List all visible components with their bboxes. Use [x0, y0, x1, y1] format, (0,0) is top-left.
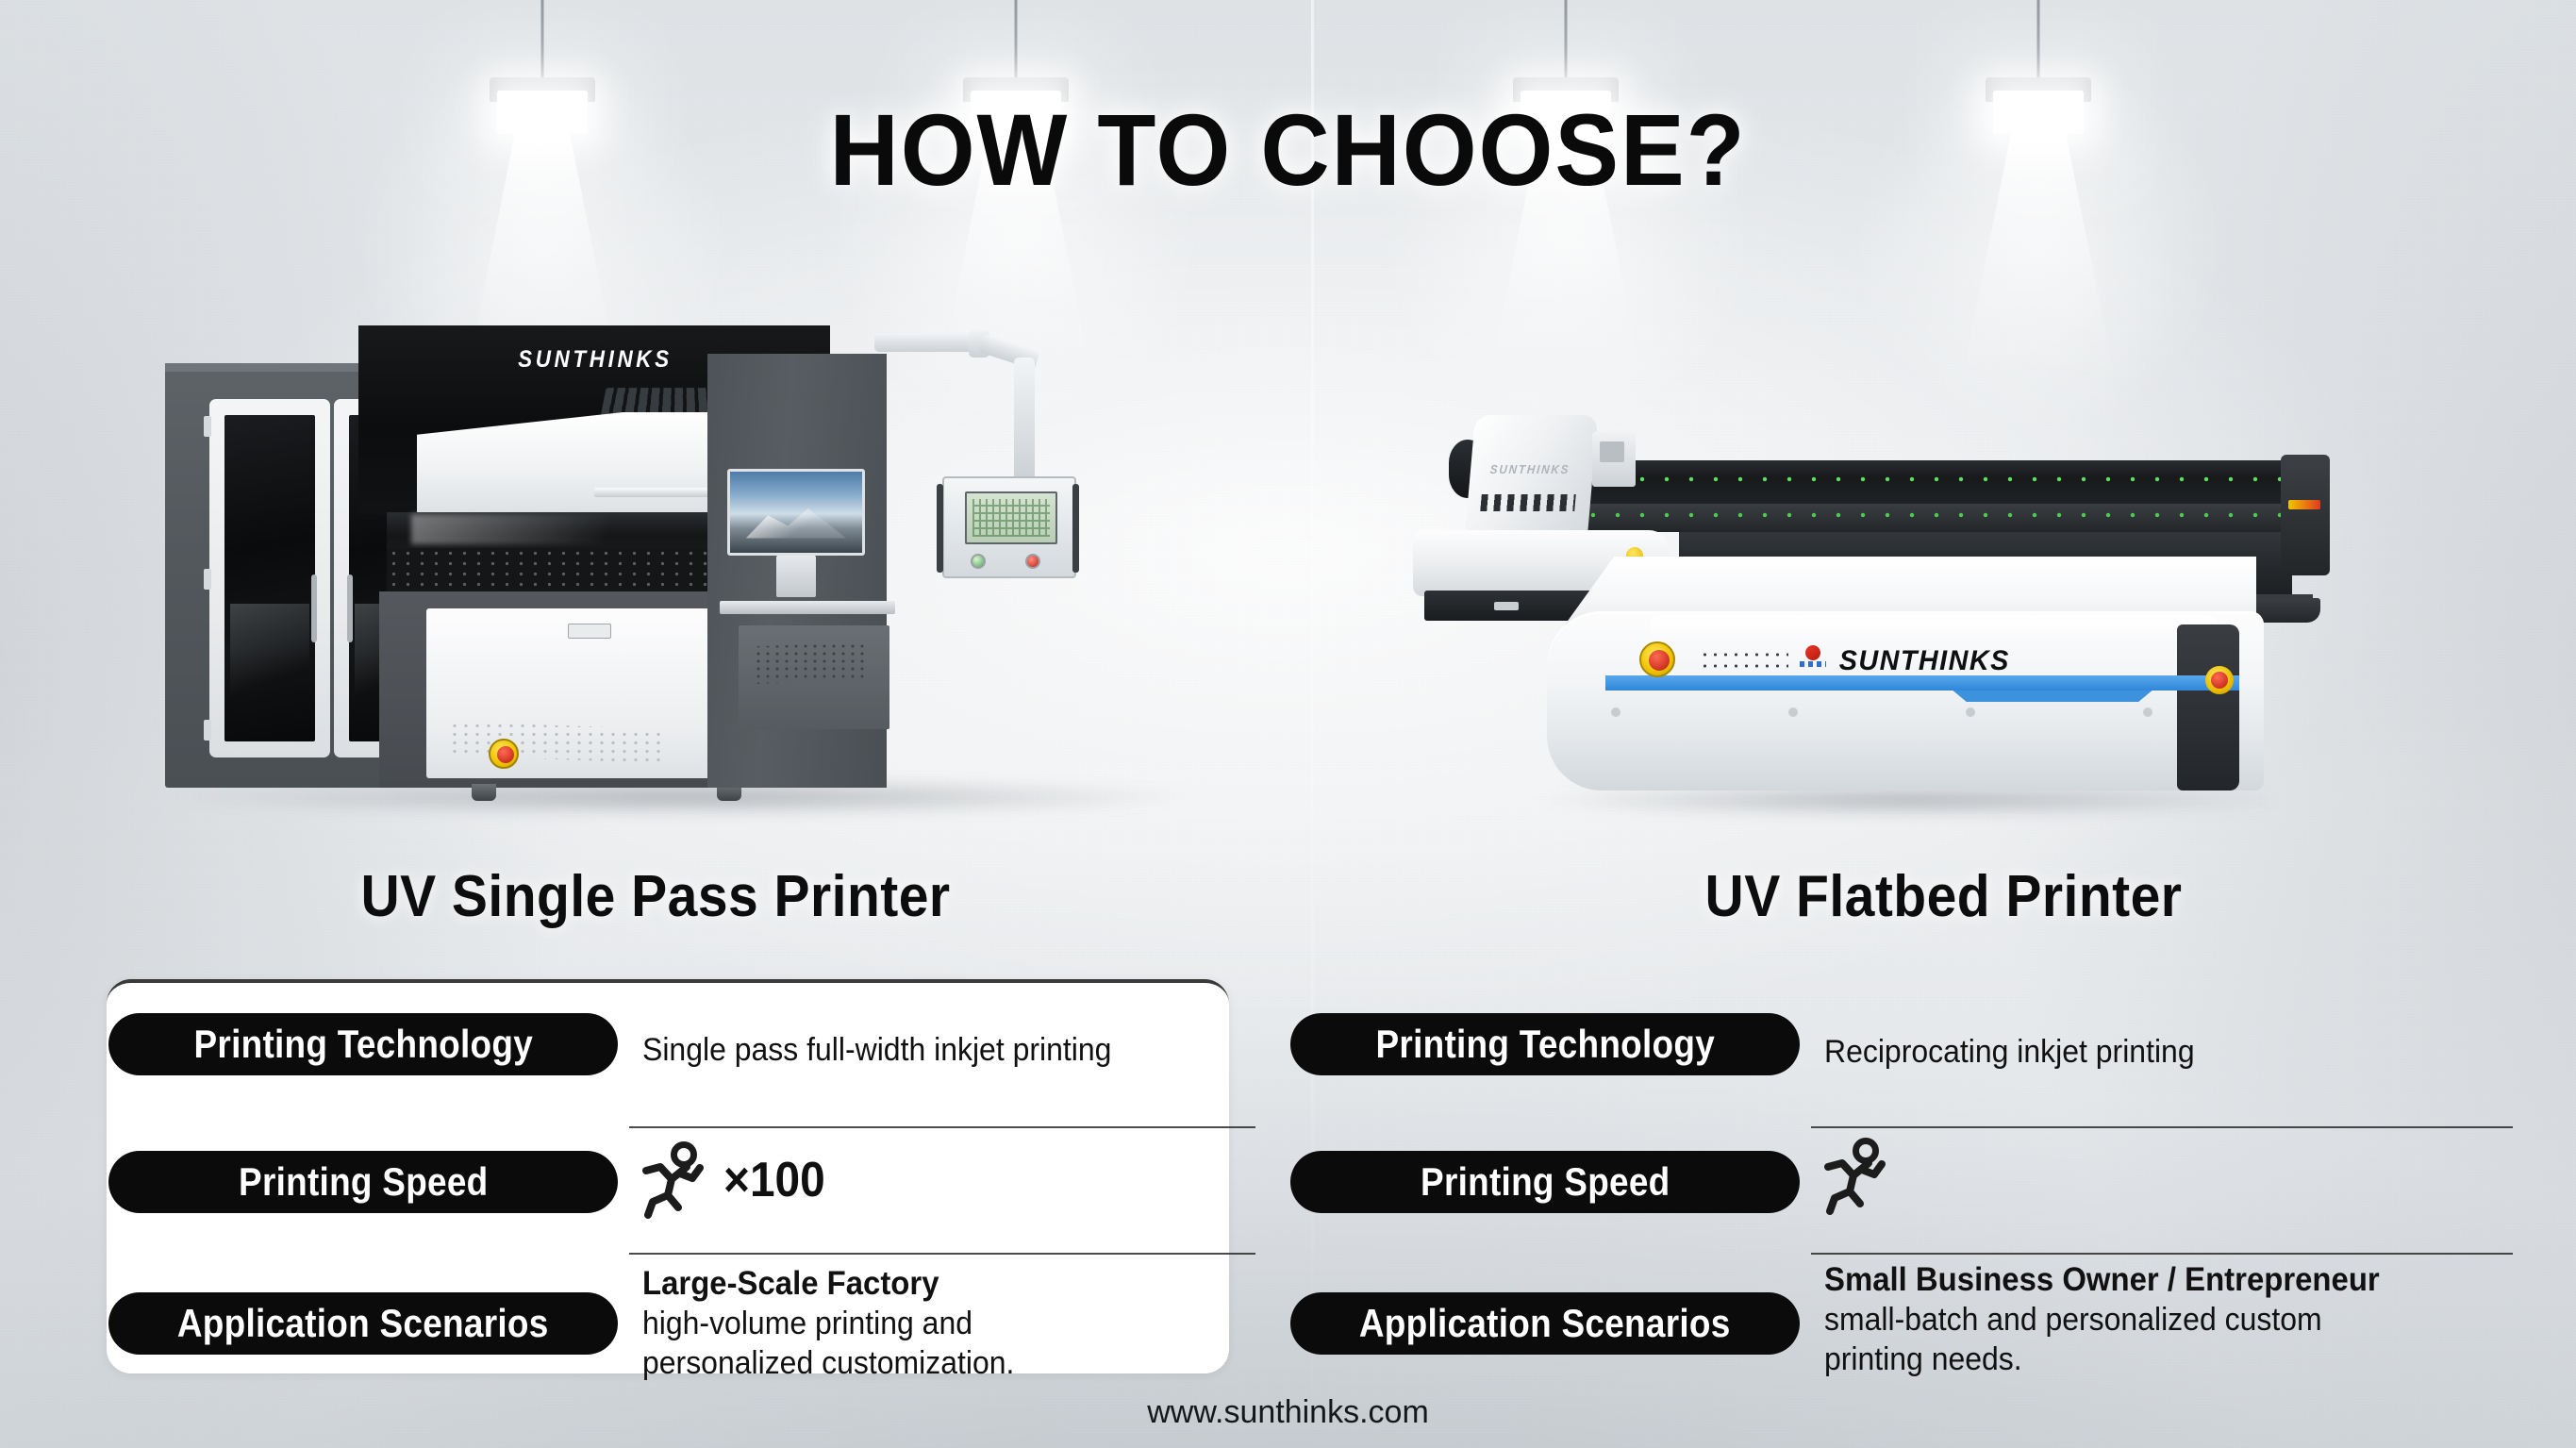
spec-row-printing-technology: Printing Technology Single pass full-wid… — [108, 1000, 1259, 1126]
printer-body-shell — [1547, 611, 2264, 791]
studio-scene: HOW TO CHOOSE? SUNTHINKS — [0, 0, 2576, 1448]
emergency-stop-button-side — [2205, 666, 2234, 694]
spec-value-line: Reciprocating inkjet printing — [1824, 1032, 2475, 1072]
articulated-arm — [865, 325, 1044, 495]
product-name-flatbed: UV Flatbed Printer — [1362, 863, 2526, 930]
product-image-single-pass-printer: SUNTHINKS — [165, 325, 1245, 807]
stop-button-icon — [1025, 554, 1040, 569]
sunthinks-logo-mark-icon — [1800, 645, 1828, 674]
spec-value-line: small-batch and personalized custom — [1824, 1300, 2475, 1340]
emergency-stop-button-left — [489, 739, 519, 769]
spec-row-application-scenarios: Application Scenarios Large-Scale Factor… — [108, 1253, 1259, 1385]
operator-monitor — [727, 469, 865, 556]
running-person-icon — [642, 1141, 710, 1219]
running-person-icon — [1824, 1138, 1892, 1215]
spec-value-speed — [1824, 1138, 1905, 1215]
enclosure-door-left — [209, 399, 330, 757]
spec-label-pill: Printing Speed — [108, 1151, 618, 1213]
spec-row-printing-speed: Printing Speed — [1290, 1126, 2517, 1253]
spec-label-pill: Application Scenarios — [1290, 1292, 1800, 1355]
machine-brand-logo-left: SUNTHINKS — [518, 346, 673, 374]
spec-value-line: personalized customization. — [642, 1343, 1222, 1383]
carriage-brand-logo: SUNTHINKS — [1489, 462, 1571, 476]
spec-value: Single pass full-width inkjet printing — [642, 1030, 1259, 1070]
spec-label-pill: Application Scenarios — [108, 1292, 618, 1355]
spec-label-pill: Printing Technology — [108, 1013, 618, 1075]
control-panel-hmi — [942, 476, 1076, 578]
speed-multiplier: ×100 — [723, 1152, 825, 1208]
spec-value-line-headline: Small Business Owner / Entrepreneur — [1824, 1260, 2475, 1300]
product-image-flatbed-printer: SUNTHINKS SUNTHINKS — [1396, 406, 2349, 811]
spec-row-application-scenarios: Application Scenarios Small Business Own… — [1290, 1253, 2517, 1385]
accent-stripe — [1605, 675, 2239, 691]
spec-label-text: Application Scenarios — [177, 1301, 549, 1346]
hmi-screen — [965, 491, 1057, 544]
spec-row-printing-speed: Printing Speed ×100 — [108, 1126, 1259, 1253]
spec-value: Reciprocating inkjet printing — [1824, 1032, 2517, 1072]
spec-value-speed: ×100 — [642, 1141, 834, 1219]
spec-label-pill: Printing Speed — [1290, 1151, 1800, 1213]
spec-divider — [629, 1126, 1255, 1128]
emergency-stop-button-right — [1639, 641, 1675, 677]
spec-label-text: Printing Technology — [1375, 1022, 1715, 1067]
spec-divider — [1811, 1126, 2513, 1128]
spec-table-single-pass: Printing Technology Single pass full-wid… — [108, 1000, 1259, 1385]
footer-website-url: www.sunthinks.com — [0, 1394, 2576, 1431]
product-name-single-pass: UV Single Pass Printer — [53, 863, 1259, 930]
spec-value: Small Business Owner / Entrepreneur smal… — [1824, 1260, 2517, 1379]
spec-row-printing-technology: Printing Technology Reciprocating inkjet… — [1290, 1000, 2517, 1126]
spec-value: Large-Scale Factory high-volume printing… — [642, 1264, 1259, 1383]
spec-label-pill: Printing Technology — [1290, 1013, 1800, 1075]
spec-label-text: Printing Technology — [193, 1022, 533, 1067]
spec-label-text: Application Scenarios — [1359, 1301, 1731, 1346]
spec-table-flatbed: Printing Technology Reciprocating inkjet… — [1290, 1000, 2517, 1385]
spec-divider — [629, 1253, 1255, 1255]
spec-value-line: high-volume printing and — [642, 1304, 1222, 1343]
spec-value-line: Single pass full-width inkjet printing — [642, 1030, 1222, 1070]
power-button-icon — [971, 554, 986, 569]
page-title: HOW TO CHOOSE? — [77, 91, 2499, 208]
spec-label-text: Printing Speed — [239, 1159, 488, 1205]
keyboard — [720, 601, 895, 614]
spec-divider — [1811, 1253, 2513, 1255]
spec-value-line: printing needs. — [1824, 1340, 2475, 1379]
machine-brand-logo-right: SUNTHINKS — [1839, 645, 2010, 677]
spec-value-line-headline: Large-Scale Factory — [642, 1264, 1222, 1304]
spec-label-text: Printing Speed — [1421, 1159, 1670, 1205]
